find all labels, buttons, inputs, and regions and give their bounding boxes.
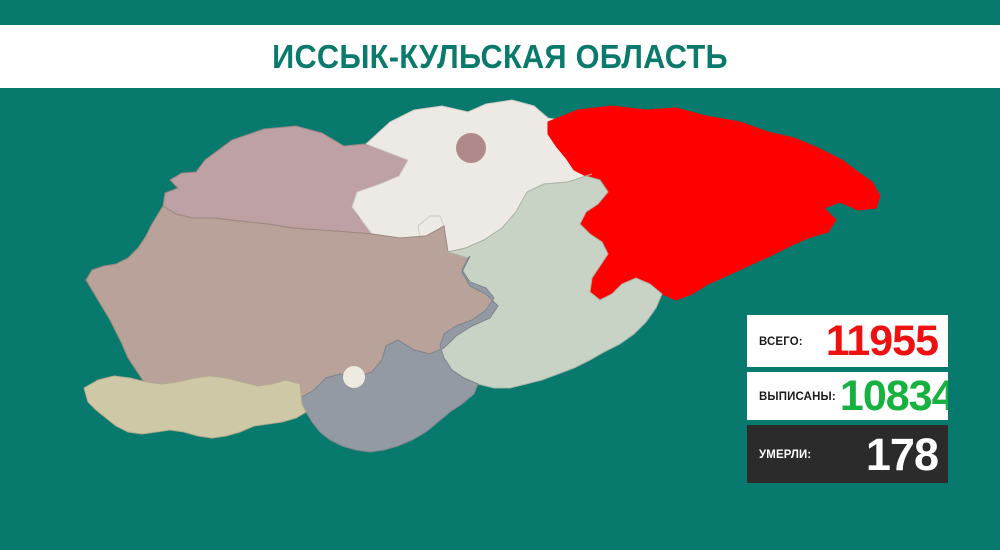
infographic-canvas: ИССЫК-КУЛЬСКАЯ ОБЛАСТЬ bbox=[0, 0, 1000, 550]
header-top-band bbox=[0, 0, 1000, 25]
city-marker-bishkek[interactable] bbox=[456, 133, 486, 163]
stat-value-died: 178 bbox=[814, 432, 948, 477]
stat-value-recovered: 10834 bbox=[840, 375, 948, 418]
stat-row-total[interactable]: ВСЕГО: 11955 bbox=[747, 315, 948, 367]
city-marker-osh-city[interactable] bbox=[343, 366, 365, 388]
statistics-panel: ВСЕГО: 11955 ВЫПИСАНЫ: 10834 УМЕРЛИ: 178 bbox=[747, 315, 948, 483]
page-title: ИССЫК-КУЛЬСКАЯ ОБЛАСТЬ bbox=[35, 25, 965, 88]
stat-label-recovered: ВЫПИСАНЫ: bbox=[759, 389, 836, 403]
stat-value-total: 11955 bbox=[805, 320, 948, 363]
stat-row-died[interactable]: УМЕРЛИ: 178 bbox=[747, 425, 948, 483]
stat-row-recovered[interactable]: ВЫПИСАНЫ: 10834 bbox=[747, 372, 948, 420]
stat-label-died: УМЕРЛИ: bbox=[759, 447, 811, 461]
stat-label-total: ВСЕГО: bbox=[759, 334, 803, 348]
